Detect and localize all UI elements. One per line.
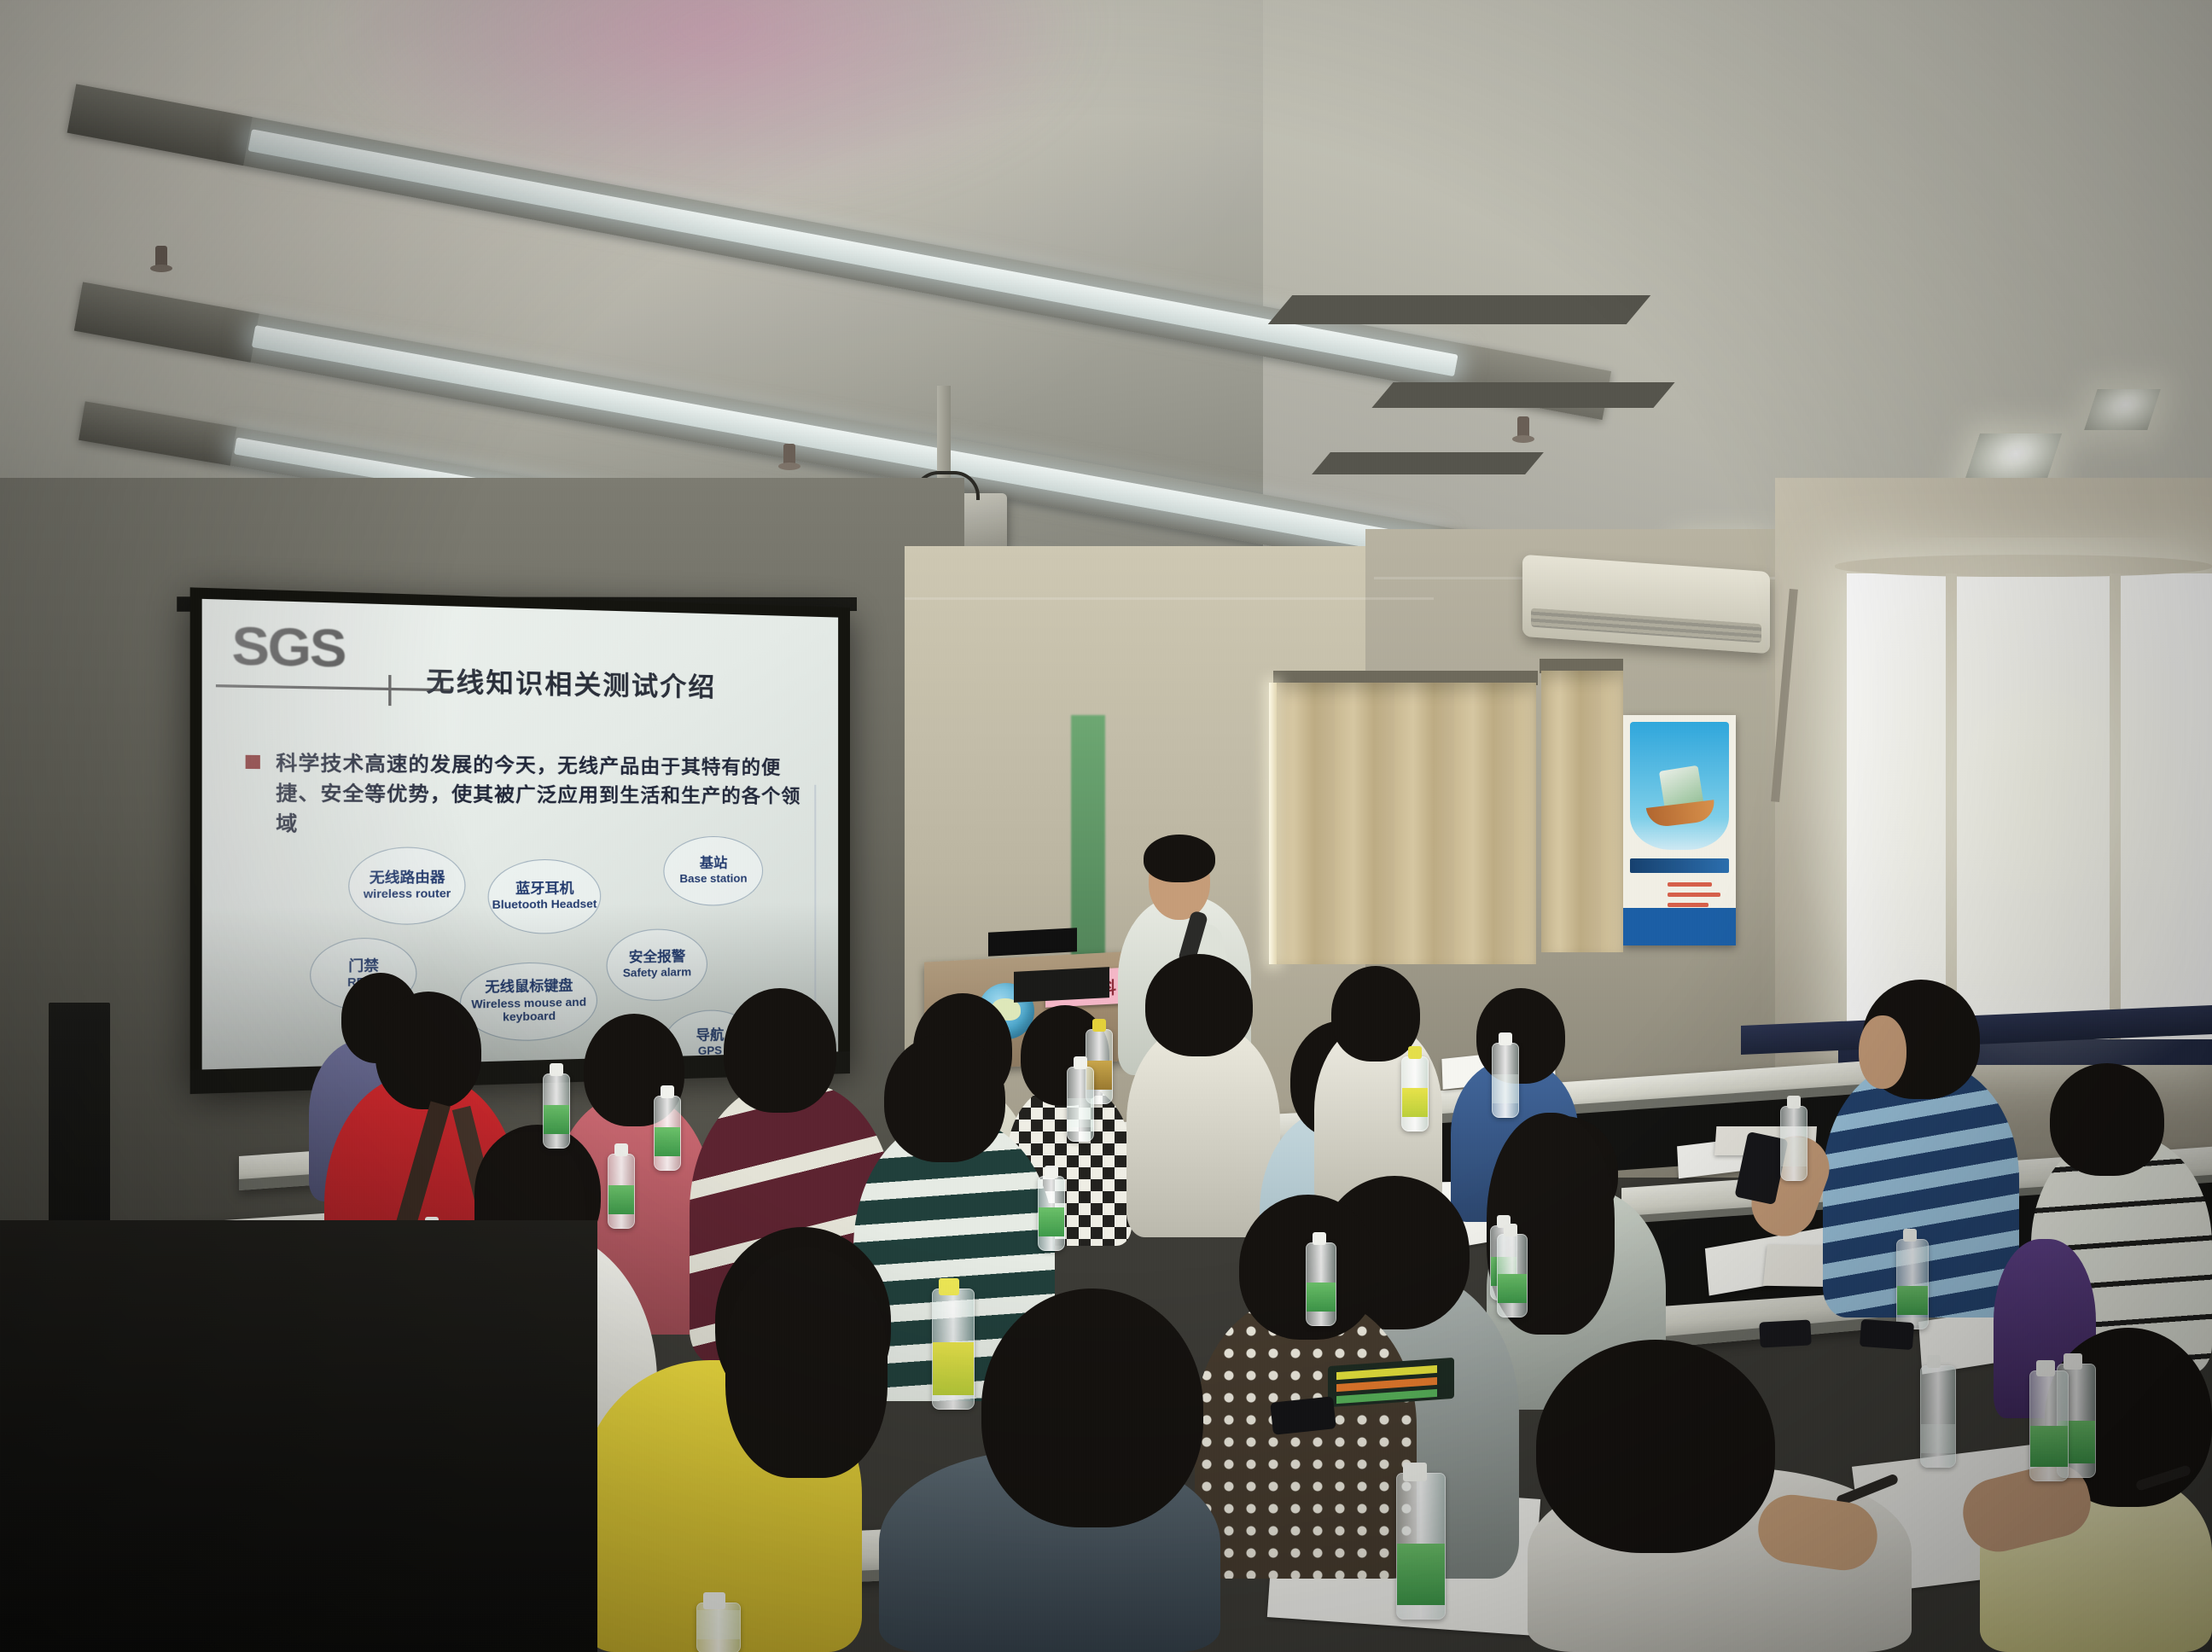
juice-bottle [1401,1056,1429,1131]
attendee-blue-stripe-face [1859,1015,1906,1089]
juice-bottle [932,1288,975,1410]
attendee-white-blackline-head [2050,1063,2164,1176]
presenter-hair [1144,835,1215,882]
bubble-label-cn: 无线路由器 [370,870,445,887]
sgs-logo-rule [216,684,451,691]
bottle-cap [1313,1232,1326,1245]
bubble-wireless-mouse-keyboard: 无线鼠标键盘 Wireless mouse and keyboard [460,962,597,1043]
water-bottle [1920,1365,1956,1468]
poster-title-bar [1630,858,1729,873]
poster-text-line [1668,893,1720,897]
window-mullion [1946,573,1957,1051]
bottle-cap [1092,1019,1106,1032]
bubble-label-en: Bluetooth Headset [492,898,597,912]
bottle-cap [703,1592,725,1609]
bubble-safety-alarm: 安全报警 Safety alarm [607,928,707,1002]
water-bottle [1492,1043,1519,1118]
blind-light-leak [1269,683,1277,964]
attendee-darkblue-front-head [981,1288,1203,1527]
attendee-white-right-head [1331,966,1420,1062]
bottle-label [2030,1426,2068,1467]
bubble-label-en: wireless router [364,887,451,901]
attendee-blue-tee-head [1476,988,1565,1084]
bottle-label [1068,1098,1093,1127]
water-bottle [1896,1239,1929,1329]
bubble-label-en: Base station [679,872,747,886]
bottle-cap [1504,1224,1517,1236]
bubble-wireless-router: 无线路由器 wireless router [348,847,465,926]
bubble-label-en: Wireless mouse and keyboard [461,995,597,1026]
bubble-label-cn: 无线鼠标键盘 [485,979,573,997]
bullet-marker-icon [246,755,260,769]
bubble-label-cn: 基站 [700,856,728,872]
air-conditioner [1522,555,1770,654]
water-bottle [1306,1242,1336,1326]
bottle-label [655,1127,680,1156]
ceiling-slot-1 [1268,295,1651,324]
bubble-label-en: Safety alarm [623,965,691,980]
attendee-whiteshirt-mid-head [1145,954,1253,1056]
poster-text-line [1668,903,1708,907]
bottle-label [697,1610,740,1639]
poster-text-line [1668,882,1712,887]
bottle-label [1039,1207,1064,1236]
sprinkler-head [155,246,167,271]
bottle-label [1781,1137,1807,1166]
bottle-cap [2036,1360,2055,1376]
bottle-label [1402,1088,1428,1117]
water-bottle [1038,1176,1065,1251]
water-bottle [1780,1106,1807,1181]
water-bottle [608,1154,635,1229]
water-bottle [654,1096,681,1171]
bottle-cap [939,1278,959,1295]
bottle-label [544,1105,569,1134]
window-blind [1275,683,1536,964]
water-bottle [1396,1473,1446,1620]
attendee-white-front-right-head [1536,1340,1775,1553]
bottle-cap [1787,1096,1801,1108]
smartphone [1860,1319,1914,1350]
attendee-red-head [375,992,481,1109]
sgs-logo: SGS [231,624,345,672]
bottle-cap [1408,1046,1422,1059]
wall-seam [905,597,1434,600]
bottle-label [1493,1074,1518,1103]
water-bottle [543,1073,570,1149]
bottle-label [1397,1544,1445,1605]
water-bottle [696,1603,741,1652]
bubble-label-cn: 导航 [696,1028,725,1045]
window-blind [1541,671,1623,952]
bubble-label-cn: 安全报警 [629,950,686,967]
water-bottle [1067,1067,1094,1142]
bottle-label [1498,1274,1527,1303]
slide-bullet: 科学技术高速的发展的今天，无线产品由于其特有的便捷、安全等优势，使其被广泛应用到… [246,747,813,839]
water-bottle [1497,1234,1528,1318]
sprinkler-head [1517,416,1529,442]
bubble-bluetooth-headset: 蓝牙耳机 Bluetooth Headset [488,859,602,934]
ceiling-slot-2 [1371,382,1674,408]
bottle-cap [661,1085,674,1098]
window-mullion [2110,573,2121,1051]
bottle-cap [2064,1353,2082,1370]
sprinkler-head [783,444,795,469]
laptop [1014,967,1109,1003]
bottle-label [1921,1424,1955,1453]
attendee-teal-stripe-head [884,1034,1005,1162]
attendee-yellow-ponytail [725,1248,888,1478]
bottle-cap [550,1063,563,1076]
window-header [1835,555,2212,577]
bottle-cap [1927,1355,1941,1368]
window [1847,573,2212,1051]
bottle-cap [1045,1166,1058,1178]
smartphone [1759,1319,1811,1347]
bottle-cap [1403,1463,1427,1481]
bottle-cap [1074,1056,1087,1069]
recessed-downlight [2084,389,2161,430]
sgs-logo-tick [388,675,391,706]
floor-shadow [0,1220,597,1652]
classroom-photo: SGS 无线知识相关测试介绍 科学技术高速的发展的今天，无线产品由于其特有的便捷… [0,0,2212,1652]
bubble-label-cn: 蓝牙耳机 [515,881,573,899]
smartphone [1270,1396,1336,1435]
podium-monitor [988,928,1077,956]
bottle-label [1897,1286,1928,1315]
bubble-base-station: 基站 Base station [663,836,763,906]
ceiling-slot-3 [1312,452,1544,474]
attendee-maroon-stripe-head [724,988,836,1113]
bottle-label [1307,1283,1336,1312]
bottle-cap [1499,1032,1512,1045]
slide-title: 无线知识相关测试介绍 [426,660,716,704]
bottle-label [933,1342,974,1395]
bottle-cap [1903,1229,1917,1242]
bottle-label [608,1185,634,1214]
poster-footer [1623,908,1736,945]
ac-vent [1531,608,1761,643]
bottle-cap [614,1143,628,1156]
wall-poster [1623,715,1736,945]
water-bottle [2029,1370,2069,1481]
slide-bullet-text: 科学技术高速的发展的今天，无线产品由于其特有的便捷、安全等优势，使其被广泛应用到… [276,748,812,840]
